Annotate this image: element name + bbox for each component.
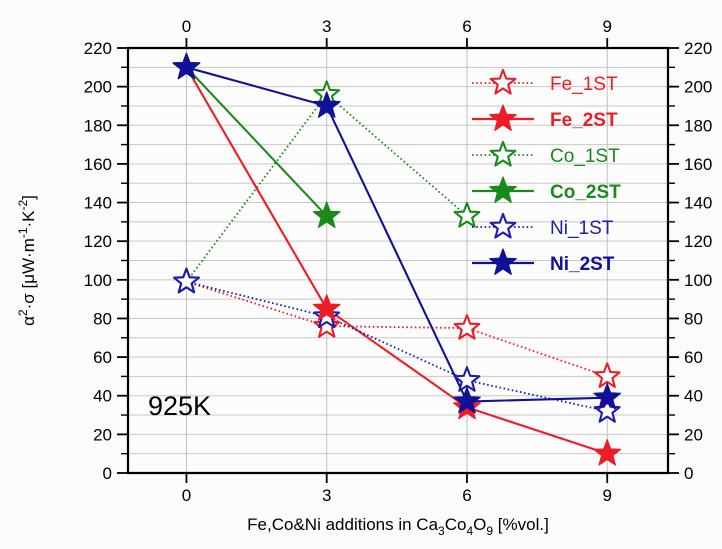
legend-label-co_1st: Co_1ST	[550, 146, 620, 167]
legend-label-ni_1st: Ni_1ST	[550, 218, 614, 239]
ytick-label-left-200: 200	[84, 78, 112, 97]
ytick-label-left-180: 180	[84, 116, 112, 135]
ytick-label-right-200: 200	[684, 78, 712, 97]
ytick-label-left-160: 160	[84, 155, 112, 174]
ytick-label-right-100: 100	[684, 271, 712, 290]
ytick-label-right-60: 60	[684, 348, 703, 367]
ytick-label-left-100: 100	[84, 271, 112, 290]
legend-label-co_2st: Co_2ST	[550, 182, 621, 203]
ytick-label-left-60: 60	[93, 348, 112, 367]
legend-label-ni_2st: Ni_2ST	[550, 254, 615, 275]
ytick-label-right-20: 20	[684, 425, 703, 444]
power-factor-line-chart: 0020204040606080801001001201201401401601…	[0, 0, 722, 549]
ytick-label-left-120: 120	[84, 232, 112, 251]
ytick-label-right-80: 80	[684, 309, 703, 328]
ytick-label-right-180: 180	[684, 116, 712, 135]
legend-label-fe_2st: Fe_2ST	[550, 110, 618, 131]
ytick-label-right-0: 0	[684, 464, 693, 483]
chart-figure: 0020204040606080801001001201201401401601…	[0, 0, 722, 549]
xtick-label-bottom-9: 9	[602, 486, 611, 505]
xtick-label-bottom-0: 0	[182, 486, 191, 505]
temperature-annotation: 925K	[148, 391, 211, 421]
ytick-label-left-220: 220	[84, 39, 112, 58]
ytick-label-left-140: 140	[84, 194, 112, 213]
y-axis-title: α2·σ [μW·m-1·K-2]	[16, 195, 38, 326]
xtick-label-top-0: 0	[182, 17, 191, 36]
xtick-label-top-9: 9	[602, 17, 611, 36]
xtick-label-bottom-3: 3	[322, 486, 331, 505]
ytick-label-right-160: 160	[684, 155, 712, 174]
xtick-label-bottom-6: 6	[462, 486, 471, 505]
ytick-label-left-0: 0	[103, 464, 112, 483]
xtick-label-top-3: 3	[322, 17, 331, 36]
ytick-label-left-40: 40	[93, 387, 112, 406]
ytick-label-right-220: 220	[684, 39, 712, 58]
ytick-label-right-120: 120	[684, 232, 712, 251]
ytick-label-left-80: 80	[93, 309, 112, 328]
legend-label-fe_1st: Fe_1ST	[550, 74, 618, 95]
xtick-label-top-6: 6	[462, 17, 471, 36]
ytick-label-left-20: 20	[93, 425, 112, 444]
x-axis-title: Fe,Co&Ni additions in Ca3Co4O9 [%vol.]	[247, 515, 549, 538]
ytick-label-right-140: 140	[684, 194, 712, 213]
ytick-label-right-40: 40	[684, 387, 703, 406]
